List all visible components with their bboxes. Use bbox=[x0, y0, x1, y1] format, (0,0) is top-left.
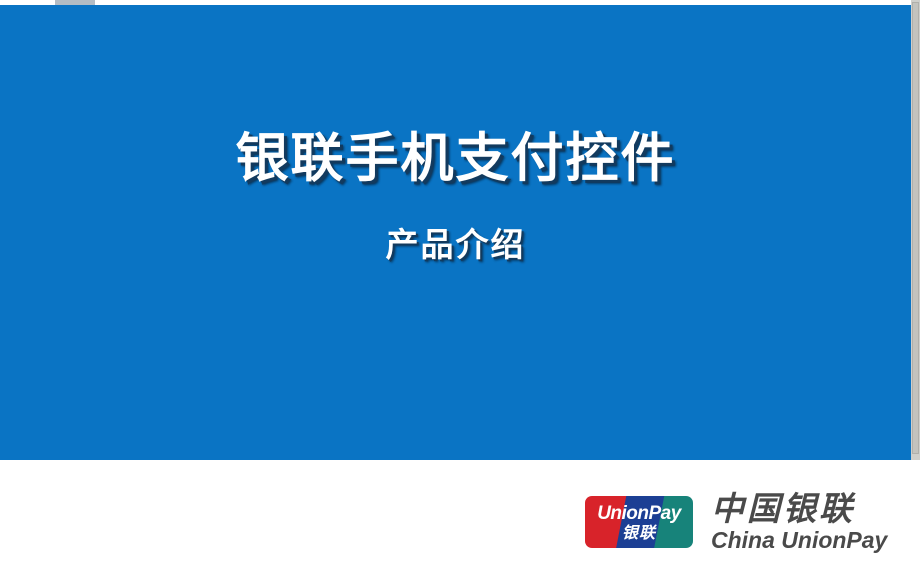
vertical-scrollbar[interactable] bbox=[911, 0, 920, 460]
scrollbar-thumb[interactable] bbox=[912, 2, 919, 454]
logo-wordmark: 中国银联 China UnionPay bbox=[711, 492, 887, 552]
wordmark-chinese: 中国银联 bbox=[711, 492, 887, 527]
unionpay-card-badge-icon: UnionPay 银联 bbox=[585, 496, 693, 548]
slide-content-panel: 银联手机支付控件 产品介绍 bbox=[0, 5, 911, 460]
badge-english-label: UnionPay bbox=[597, 504, 681, 523]
china-unionpay-logo: UnionPay 银联 中国银联 China UnionPay bbox=[585, 492, 887, 552]
badge-text-group: UnionPay 银联 bbox=[585, 496, 693, 548]
badge-chinese-label: 银联 bbox=[622, 526, 656, 542]
page-title: 银联手机支付控件 bbox=[0, 130, 911, 188]
wordmark-english: China UnionPay bbox=[711, 528, 887, 552]
page-subtitle: 产品介绍 bbox=[0, 227, 911, 263]
slide-footer: UnionPay 银联 中国银联 China UnionPay bbox=[0, 460, 920, 575]
slide-viewer: 银联手机支付控件 产品介绍 UnionPay 银联 中国银联 China Uni… bbox=[0, 0, 920, 575]
